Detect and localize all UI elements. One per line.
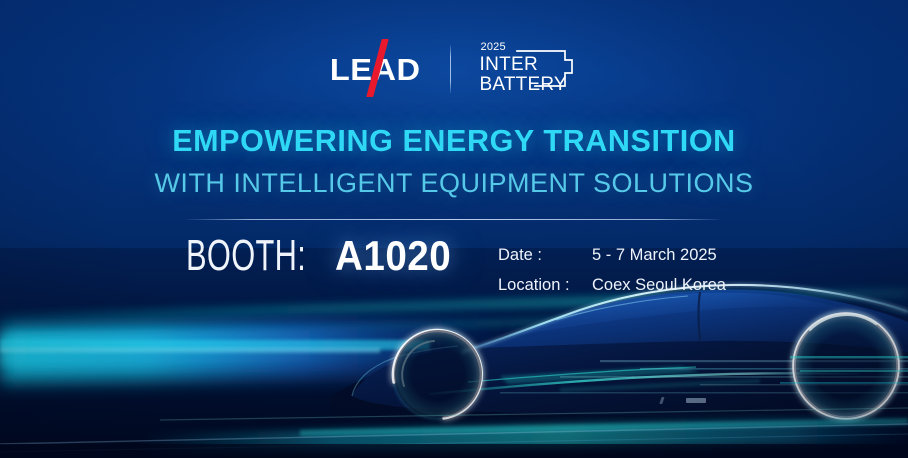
detail-value: Coex Seoul Korea: [592, 270, 726, 300]
booth-number: A1020: [335, 235, 451, 277]
promo-banner: LEAD 2025 INTER BATTERY EMPOWERING ENERG…: [0, 0, 908, 458]
logo-divider: [450, 45, 451, 93]
headline-primary: EMPOWERING ENERGY TRANSITION: [0, 126, 908, 157]
logo-row: LEAD 2025 INTER BATTERY: [0, 40, 908, 98]
info-row: BOOTH: A1020 Date : 5 - 7 March 2025 Loc…: [0, 234, 908, 296]
detail-key: Location :: [498, 270, 592, 300]
interbattery-logo: 2025 INTER BATTERY: [479, 42, 579, 96]
booth-block: BOOTH: A1020: [186, 234, 461, 278]
detail-row-location: Location : Coex Seoul Korea: [498, 270, 726, 300]
interbattery-line2: BATTERY: [480, 75, 567, 94]
interbattery-year: 2025: [481, 42, 506, 53]
interbattery-line1: INTER: [480, 55, 539, 74]
detail-key: Date :: [498, 240, 592, 270]
detail-value: 5 - 7 March 2025: [592, 240, 717, 270]
horizontal-divider: [186, 219, 720, 220]
booth-label: BOOTH:: [186, 234, 306, 278]
event-details: Date : 5 - 7 March 2025 Location : Coex …: [498, 240, 726, 300]
detail-row-date: Date : 5 - 7 March 2025: [498, 240, 726, 270]
lead-logo: LEAD: [330, 48, 422, 90]
headline-secondary: WITH INTELLIGENT EQUIPMENT SOLUTIONS: [0, 170, 908, 197]
